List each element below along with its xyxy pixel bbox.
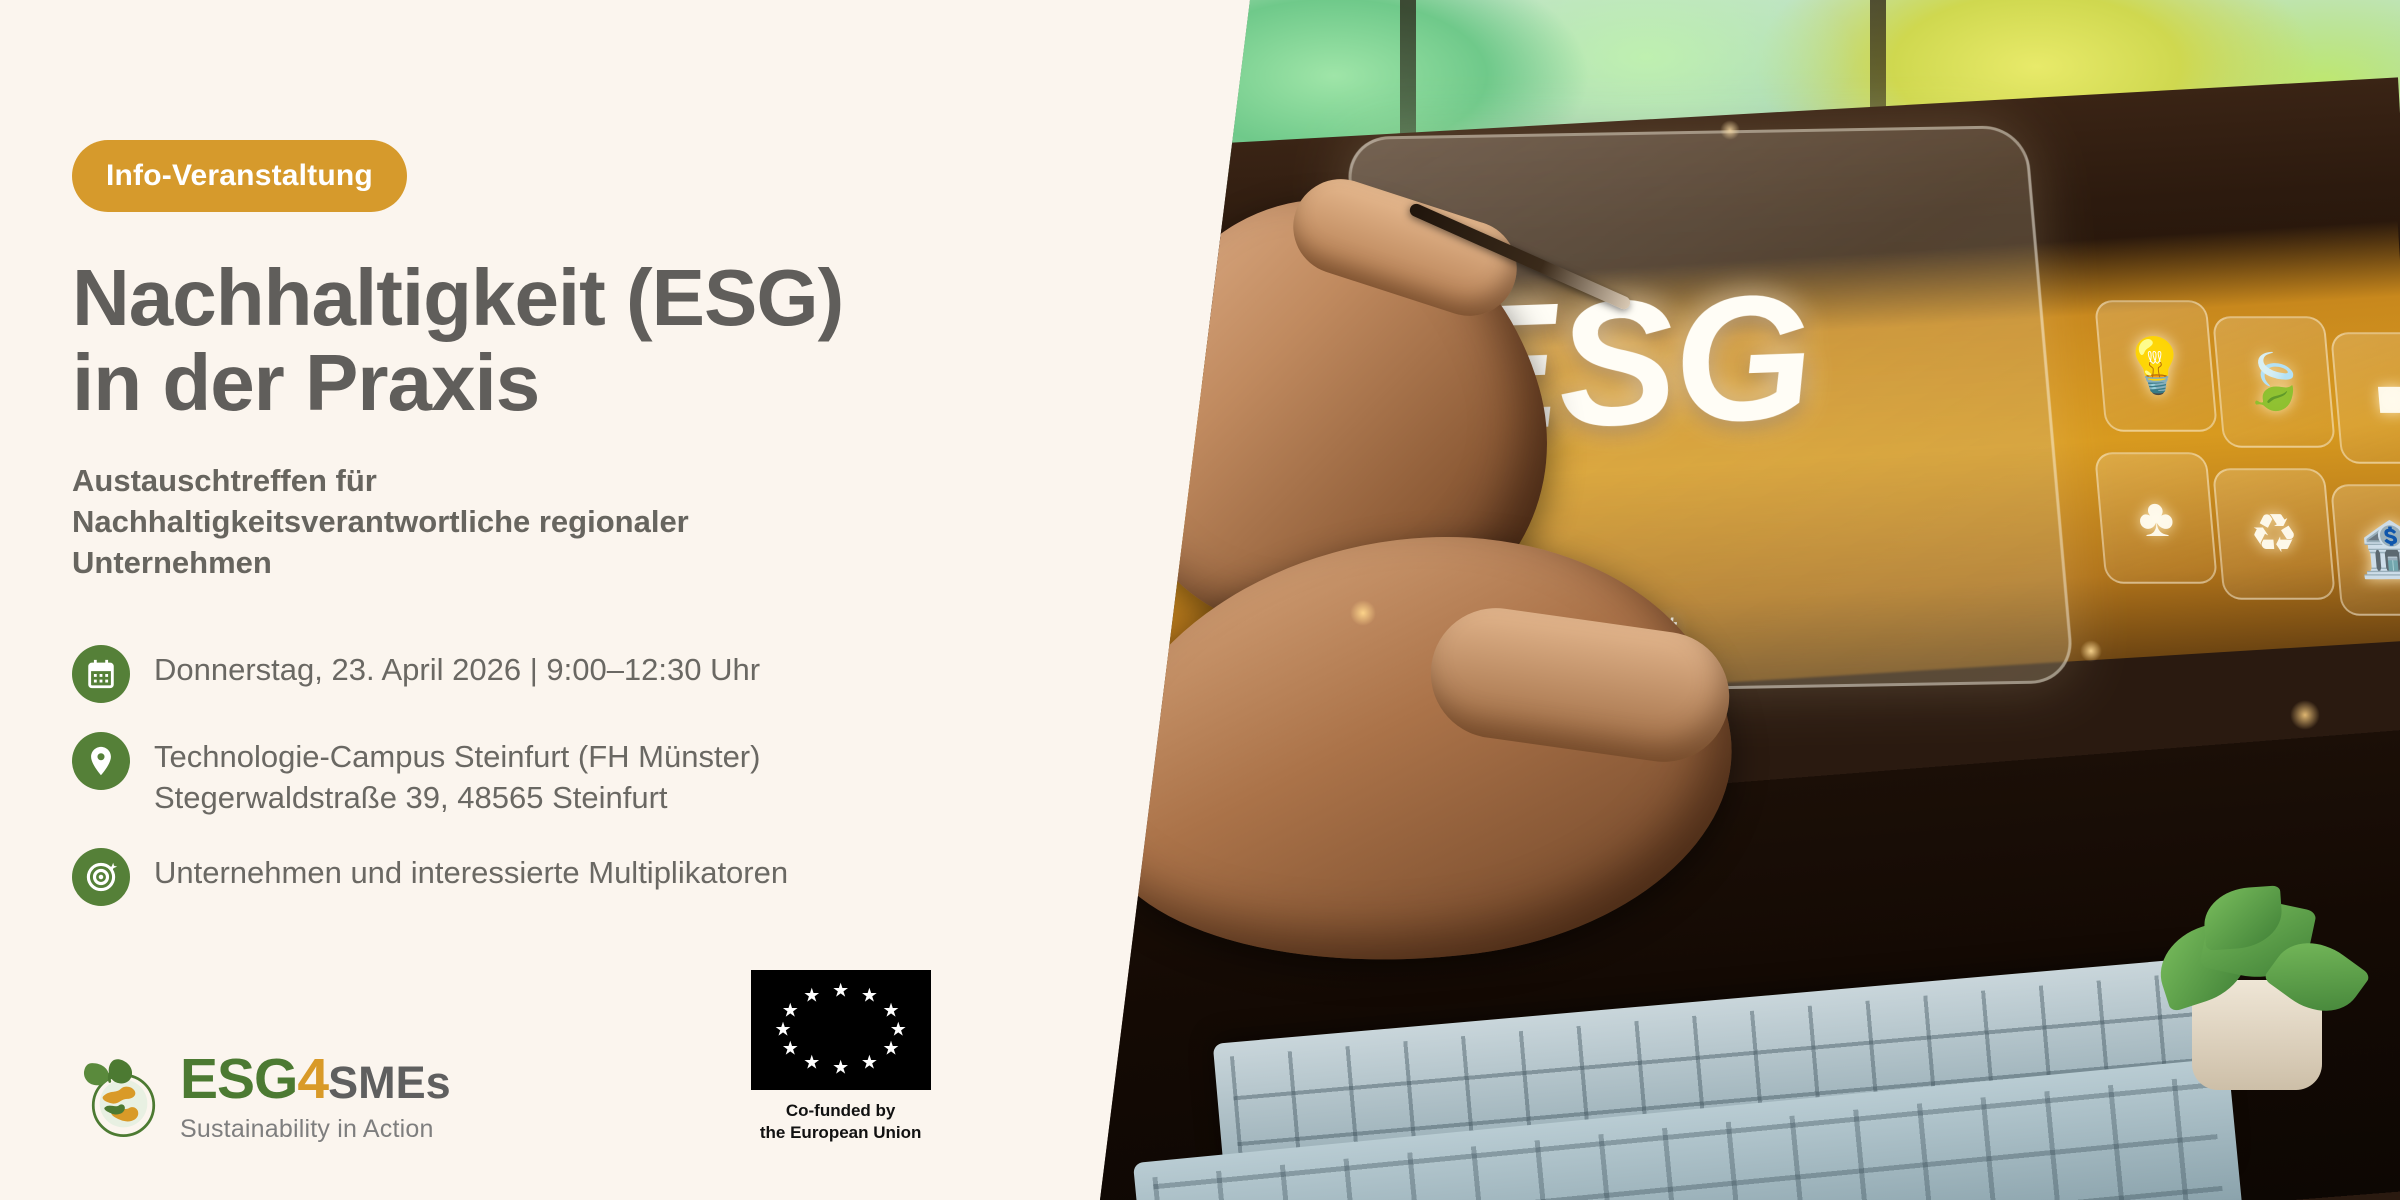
lightbulb-icon: 💡 — [2094, 300, 2218, 431]
eu-caption-line-1: Co-funded by — [751, 1100, 931, 1122]
detail-row-audience: Unternehmen und interessierte Multiplika… — [72, 846, 1180, 906]
title-line-2: in der Praxis — [72, 341, 1180, 426]
calendar-icon — [72, 645, 130, 703]
detail-row-date: Donnerstag, 23. April 2026 | 9:00–12:30 … — [72, 643, 1180, 703]
event-poster: 💡 🍃 ♣ ♻ ■ 🏦 ESG environment social gover… — [0, 0, 2400, 1200]
detail-line-1: Unternehmen und interessierte Multiplika… — [154, 855, 788, 890]
bank-icon: 🏦 — [2330, 484, 2400, 615]
logo-wordmark: ESG4SMEs Sustainability in Action — [180, 1051, 451, 1144]
logo-smes: SMEs — [328, 1057, 451, 1108]
logo-esg: ESG — [180, 1047, 297, 1111]
bokeh-light — [2290, 700, 2320, 730]
esg4smes-logo: ESG4SMEs Sustainability in Action — [72, 1051, 451, 1144]
title-line-1: Nachhaltigkeit (ESG) — [72, 256, 1180, 341]
page-title: Nachhaltigkeit (ESG) in der Praxis — [72, 256, 1180, 426]
event-type-badge: Info-Veranstaltung — [72, 140, 407, 212]
poster-content: Info-Veranstaltung Nachhaltigkeit (ESG) … — [0, 0, 1180, 1200]
detail-text-date: Donnerstag, 23. April 2026 | 9:00–12:30 … — [154, 643, 760, 691]
leaf-icon: 🍃 — [2212, 316, 2336, 447]
eu-funding-logo: ★ ★ ★ ★ ★ ★ ★ ★ ★ ★ ★ ★ Co-funded by the… — [751, 970, 931, 1144]
target-icon — [72, 848, 130, 906]
poster-footer: ESG4SMEs Sustainability in Action ★ ★ ★ … — [72, 970, 931, 1144]
logo-4: 4 — [297, 1047, 328, 1111]
eu-caption: Co-funded by the European Union — [751, 1100, 931, 1144]
page-subtitle: Austauschtreffen für Nachhaltigkeitsvera… — [72, 460, 832, 584]
detail-text-location: Technologie-Campus Steinfurt (FH Münster… — [154, 730, 760, 819]
eu-flag-icon: ★ ★ ★ ★ ★ ★ ★ ★ ★ ★ ★ ★ — [751, 970, 931, 1090]
hero-photo: 💡 🍃 ♣ ♻ ■ 🏦 ESG environment social gover… — [1100, 0, 2400, 1200]
detail-line-1: Technologie-Campus Steinfurt (FH Münster… — [154, 737, 760, 778]
map-pin-icon — [72, 732, 130, 790]
detail-line-2: Stegerwaldstraße 39, 48565 Steinfurt — [154, 778, 760, 819]
event-details-list: Donnerstag, 23. April 2026 | 9:00–12:30 … — [72, 643, 1180, 906]
recycle-icon: ♻ — [2212, 468, 2336, 599]
wind-turbine-icon: ♣ — [2094, 452, 2218, 583]
eu-caption-line-2: the European Union — [751, 1122, 931, 1144]
detail-text-audience: Unternehmen und interessierte Multiplika… — [154, 846, 788, 894]
logo-tagline: Sustainability in Action — [180, 1115, 451, 1144]
detail-line-1: Donnerstag, 23. April 2026 | 9:00–12:30 … — [154, 652, 760, 687]
logo-word-row: ESG4SMEs — [180, 1051, 451, 1108]
detail-row-location: Technologie-Campus Steinfurt (FH Münster… — [72, 730, 1180, 819]
globe-leaf-icon — [72, 1054, 164, 1142]
solar-panel-icon: ■ — [2330, 332, 2400, 463]
